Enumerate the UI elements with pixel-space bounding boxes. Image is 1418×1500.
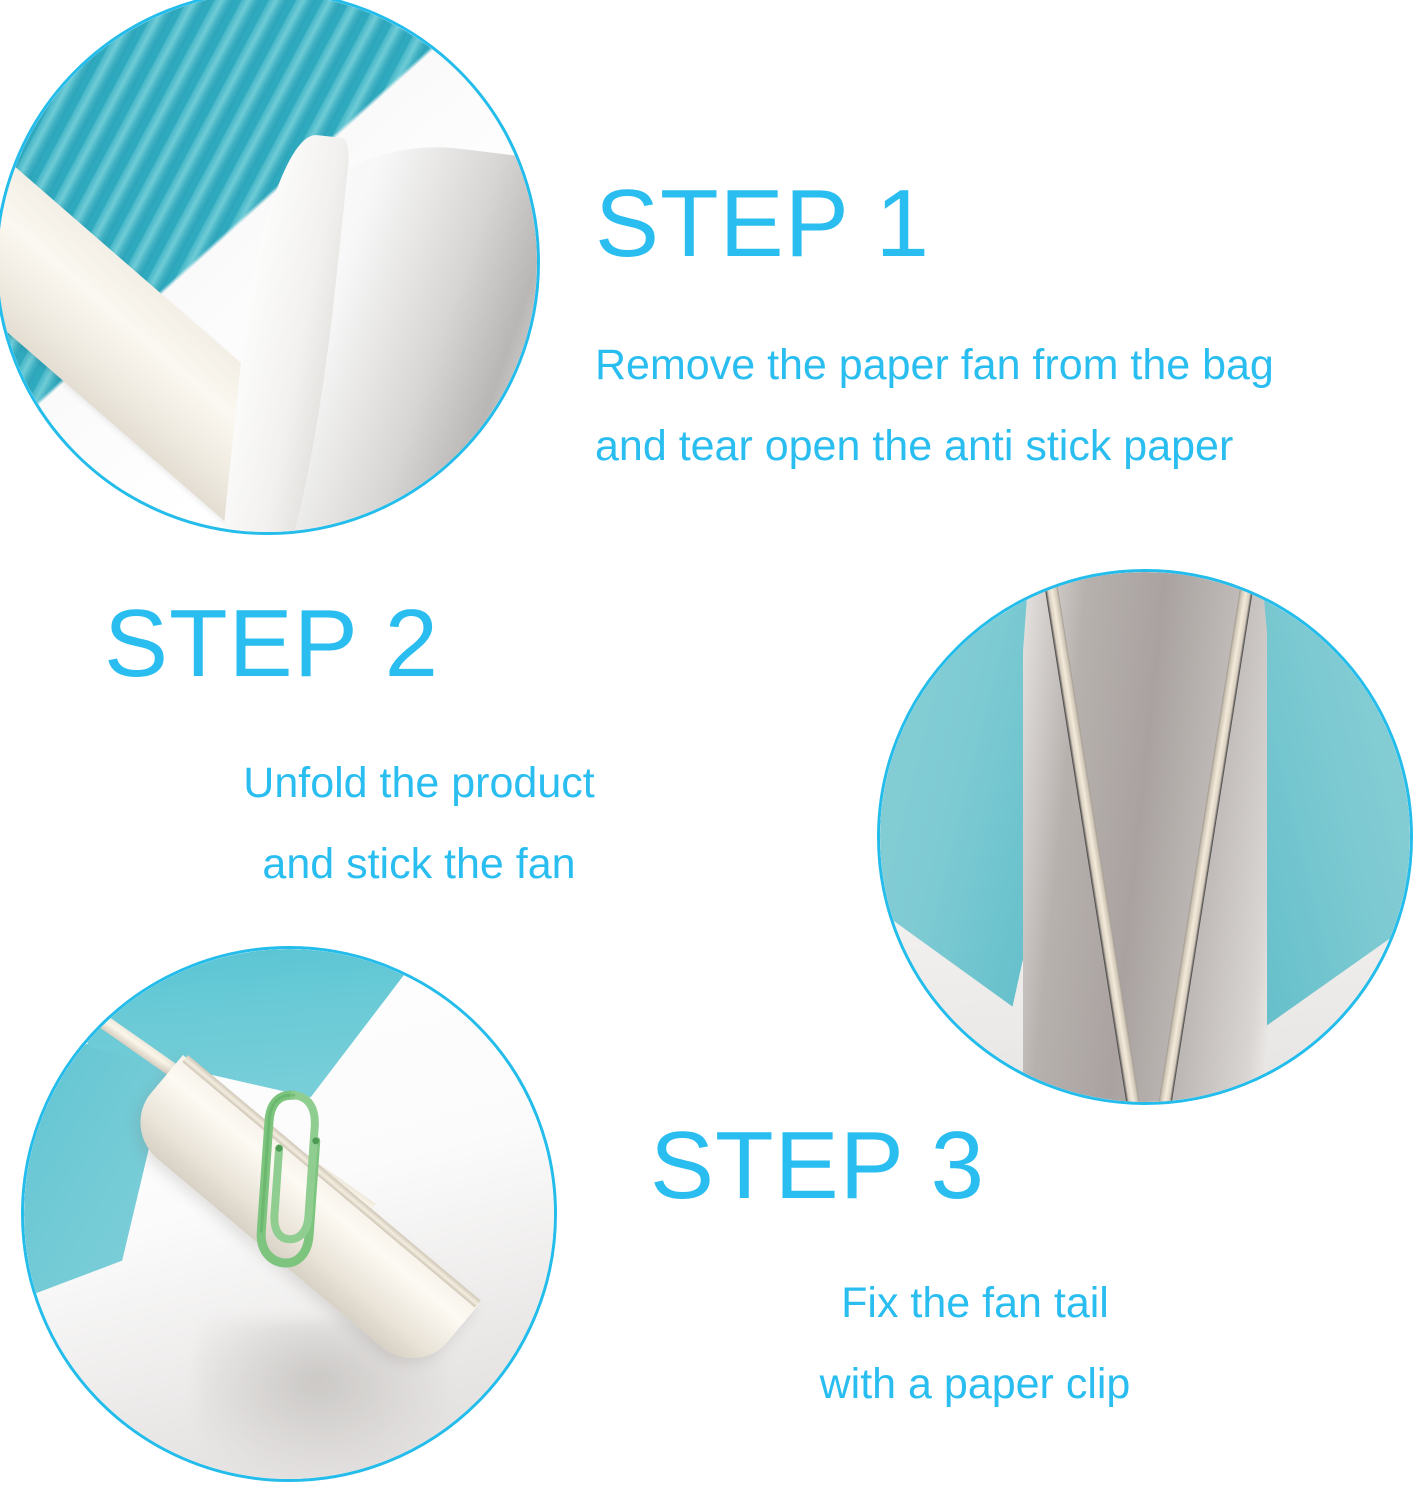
step-2-line-2: and stick the fan [104, 843, 734, 886]
step-3-line-2: with a paper clip [650, 1363, 1300, 1406]
step-1-title: STEP 1 [595, 176, 1274, 272]
step-1-text-block: STEP 1 Remove the paper fan from the bag… [595, 176, 1274, 468]
step-1-photo [0, 0, 540, 535]
step-1-line-1: Remove the paper fan from the bag [595, 344, 1274, 387]
step-3-photo-inner [24, 949, 554, 1479]
instruction-graphic: STEP 1 Remove the paper fan from the bag… [0, 0, 1418, 1500]
paper-clip-icon [251, 1085, 326, 1273]
step-2-title: STEP 2 [104, 596, 734, 692]
step-3-line-1: Fix the fan tail [650, 1282, 1300, 1325]
step-3-title: STEP 3 [650, 1118, 1300, 1214]
step-2-text-block: STEP 2 Unfold the product and stick the … [104, 596, 734, 886]
step-3-text-block: STEP 3 Fix the fan tail with a paper cli… [650, 1118, 1300, 1406]
step-2-line-1: Unfold the product [104, 762, 734, 805]
step-1-line-2: and tear open the anti stick paper [595, 425, 1274, 468]
step-3-photo [21, 946, 557, 1482]
step-1-photo-inner [0, 0, 537, 532]
step-2-photo [877, 569, 1413, 1105]
step-2-photo-inner [880, 572, 1410, 1102]
